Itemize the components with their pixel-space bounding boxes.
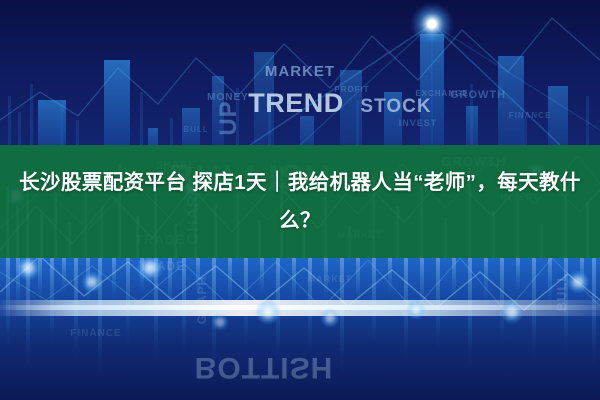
sky-section: MONEY PROFIT EXCHANGE GROWTH MARKET INVE… xyxy=(0,0,600,160)
svg-text:BULL: BULL xyxy=(183,125,208,134)
svg-text:FINANCE: FINANCE xyxy=(509,111,552,120)
svg-text:STOCK: STOCK xyxy=(360,96,431,117)
svg-text:INVEST: INVEST xyxy=(399,118,438,128)
svg-text:MARKET: MARKET xyxy=(338,230,383,240)
banner-image: MONEY PROFIT EXCHANGE GROWTH MARKET INVE… xyxy=(0,0,600,400)
svg-text:MARKET: MARKET xyxy=(265,63,335,80)
svg-text:BOTTISH: BOTTISH xyxy=(195,351,334,384)
svg-text:FINANCE: FINANCE xyxy=(70,328,121,339)
glow-node-main-core xyxy=(428,20,437,29)
svg-text:TRADE: TRADE xyxy=(135,232,185,247)
banner-artwork: MONEY PROFIT EXCHANGE GROWTH MARKET INVE… xyxy=(0,0,600,400)
svg-text:GROWTH: GROWTH xyxy=(450,89,506,101)
green-section: BULLISH TRADE CHART GROWTH SHARE INVEST … xyxy=(0,145,600,258)
reflection-section: BOTTISH TRADE GRAPH BULL MARKET FINANCE xyxy=(0,254,600,400)
svg-text:MARKET: MARKET xyxy=(308,274,353,284)
svg-text:SHARE: SHARE xyxy=(156,160,196,171)
svg-text:UP: UP xyxy=(215,100,242,135)
